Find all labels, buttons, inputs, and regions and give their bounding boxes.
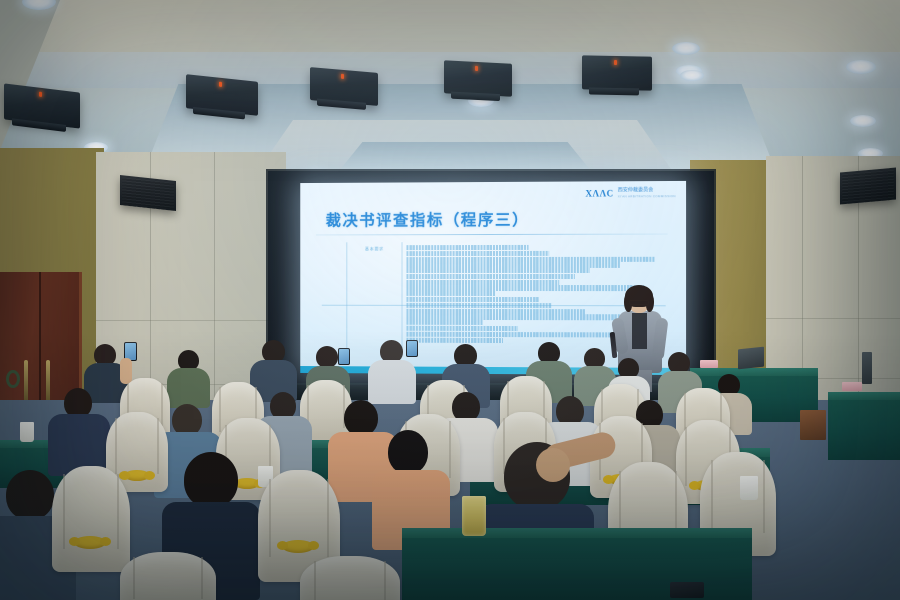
- chair-bow: [124, 470, 150, 481]
- logo-mark: ΧΛΛC: [585, 189, 613, 199]
- door-handle[interactable]: [46, 360, 50, 404]
- phone[interactable]: [406, 340, 418, 357]
- wall-speaker-left: [120, 175, 176, 211]
- phone-on-table[interactable]: [670, 582, 704, 598]
- ceiling-ac-unit: [582, 55, 652, 90]
- name-card: [842, 382, 862, 391]
- ac-indicator-light: [39, 92, 42, 97]
- logo-text: 西安仲裁委员会 XI'AN ARBITRATION COMMISSION: [618, 187, 676, 200]
- ceiling-downlight: [672, 42, 700, 55]
- organization-logo: ΧΛΛC 西安仲裁委员会 XI'AN ARBITRATION COMMISSIO…: [585, 187, 675, 200]
- ceiling-ac-unit: [444, 60, 512, 97]
- side-table-top: [690, 368, 818, 376]
- chair: [300, 556, 400, 600]
- hand: [536, 448, 570, 482]
- slide-table-col-header: 基本要求: [347, 242, 402, 353]
- laptop[interactable]: [738, 347, 764, 370]
- equipment-table-top: [828, 392, 900, 400]
- tea-glass: [462, 496, 486, 536]
- ceiling-downlight: [850, 115, 876, 127]
- chair: [52, 466, 130, 572]
- equipment-table-skirt: [828, 400, 900, 460]
- ac-indicator-light: [219, 82, 222, 87]
- wall-speaker-right: [840, 168, 896, 205]
- front-table-top: [402, 528, 752, 538]
- ac-indicator-light: [475, 66, 478, 71]
- ceiling-ac-unit: [4, 83, 80, 128]
- door-handle[interactable]: [24, 360, 28, 404]
- ac-indicator-light: [341, 74, 344, 79]
- chair-bow: [282, 540, 314, 553]
- chair-bow: [74, 536, 106, 549]
- ceiling-downlight: [846, 60, 876, 74]
- chair: [120, 552, 216, 600]
- slide-title-rule: [316, 234, 668, 236]
- paper-cup: [740, 476, 758, 500]
- ceiling-ac-unit: [186, 74, 258, 116]
- ceiling-ac-unit: [310, 67, 378, 106]
- slide-title: 裁决书评查指标（程序三）: [326, 208, 530, 231]
- door-ring-pull[interactable]: [6, 370, 20, 388]
- slide-table-col-index: [322, 242, 348, 353]
- equipment-box: [862, 352, 872, 384]
- presenter-glasses: [629, 300, 649, 305]
- phone[interactable]: [338, 348, 350, 365]
- equipment-box: [800, 410, 826, 440]
- name-card: [700, 360, 718, 368]
- ac-indicator-light: [614, 60, 617, 65]
- ceiling-downlight: [680, 70, 704, 81]
- conference-hall-photo: ΧΛΛC 西安仲裁委员会 XI'AN ARBITRATION COMMISSIO…: [0, 0, 900, 600]
- paper-cup: [20, 422, 34, 442]
